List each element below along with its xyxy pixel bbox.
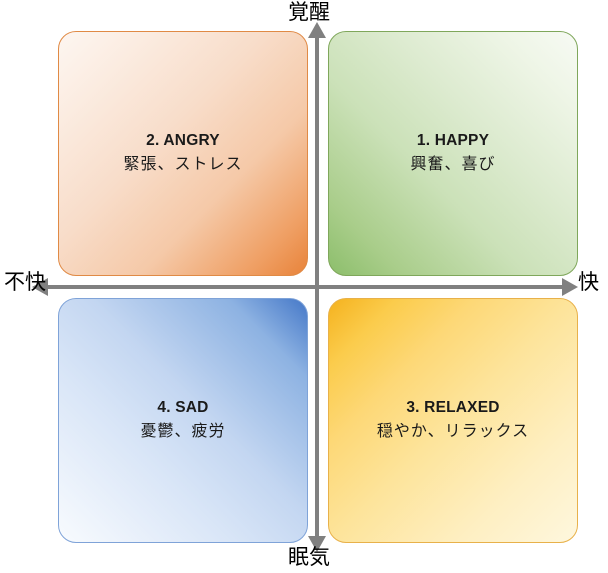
axis-label-arousal-top: 覚醒 [288,2,330,23]
axis-label-unpleasant-left: 不快 [4,272,46,293]
quadrant-sad-subtitle: 憂鬱、疲労 [140,419,225,442]
axis-label-sleepiness-bottom: 眠気 [288,547,330,568]
emotion-quadrant-diagram: 覚醒 眠気 不快 快 2. ANGRY 緊張、ストレス 1. HAPPY 興奮、… [0,0,608,573]
quadrant-happy[interactable]: 1. HAPPY 興奮、喜び [328,31,578,276]
quadrant-angry[interactable]: 2. ANGRY 緊張、ストレス [58,31,308,276]
axis-label-pleasant-right: 快 [578,272,599,293]
quadrant-sad[interactable]: 4. SAD 憂鬱、疲労 [58,298,308,543]
quadrant-angry-subtitle: 緊張、ストレス [123,152,242,175]
quadrant-sad-title: 4. SAD [157,398,208,419]
quadrant-relaxed-subtitle: 穏やか、リラックス [377,419,529,442]
horizontal-axis-line [42,285,567,289]
quadrant-happy-subtitle: 興奮、喜び [410,152,495,175]
quadrant-relaxed[interactable]: 3. RELAXED 穏やか、リラックス [328,298,578,543]
axis-arrow-right-icon [562,278,578,296]
quadrant-angry-title: 2. ANGRY [146,131,220,152]
quadrant-happy-title: 1. HAPPY [417,131,489,152]
quadrant-relaxed-title: 3. RELAXED [406,398,499,419]
